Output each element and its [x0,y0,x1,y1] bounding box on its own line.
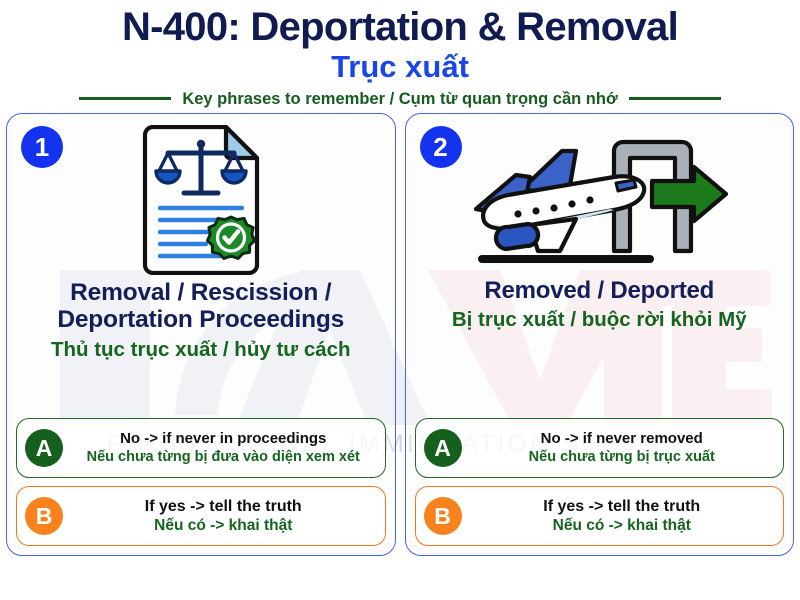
answers-list: A No -> if never removed Nếu chưa từng b… [415,418,785,546]
answer-text-english: If yes -> tell the truth [72,497,375,516]
answer-text: No -> if never in proceedings Nếu chưa t… [72,430,375,466]
card-number-badge: 2 [420,126,462,168]
card-number-badge: 1 [21,126,63,168]
card-term-vietnamese: Bị trục xuất / buộc rời khỏi Mỹ [415,308,785,332]
page-title: N-400: Deportation & Removal [0,6,800,49]
answers-list: A No -> if never in proceedings Nếu chưa… [16,418,386,546]
card-term-english: Removal / Rescission / Deportation Proce… [16,280,386,334]
answer-letter-badge: B [424,497,462,535]
page-header: N-400: Deportation & Removal Trục xuất K… [0,0,800,108]
airplane-departure-icon [415,124,785,274]
legal-document-icon [16,124,386,276]
answer-text-vietnamese: Nếu chưa từng bị đưa vào diện xem xét [72,449,375,466]
answer-text: If yes -> tell the truth Nếu có -> khai … [72,497,375,536]
infographic-page: PROFESSIONAL IMMIGRATION SERVICE N-400: … [0,0,800,600]
divider-right [629,97,721,100]
answer-text-english: No -> if never in proceedings [72,430,375,448]
answer-text-vietnamese: Nếu có -> khai thật [72,517,375,536]
answer-text-english: If yes -> tell the truth [471,497,774,516]
answer-option-b[interactable]: B If yes -> tell the truth Nếu có -> kha… [16,486,386,546]
card-term-vietnamese: Thủ tục trục xuất / hủy tư cách [16,338,386,362]
card-term-english: Removed / Deported [415,278,785,304]
answer-text: No -> if never removed Nếu chưa từng bị … [471,430,774,466]
answer-letter-badge: A [25,429,63,467]
answer-letter-badge: B [25,497,63,535]
card-removed-deported[interactable]: 2 [405,113,795,556]
answer-option-b[interactable]: B If yes -> tell the truth Nếu có -> kha… [415,486,785,546]
answer-option-a[interactable]: A No -> if never removed Nếu chưa từng b… [415,418,785,478]
answer-text: If yes -> tell the truth Nếu có -> khai … [471,497,774,536]
answer-letter-badge: A [424,429,462,467]
divider-left [79,97,171,100]
answer-text-vietnamese: Nếu chưa từng bị trục xuất [471,449,774,466]
answer-option-a[interactable]: A No -> if never in proceedings Nếu chưa… [16,418,386,478]
answer-text-english: No -> if never removed [471,430,774,448]
key-phrases-label: Key phrases to remember / Cụm từ quan tr… [182,90,617,108]
key-phrases-row: Key phrases to remember / Cụm từ quan tr… [0,90,800,108]
answer-text-vietnamese: Nếu có -> khai thật [471,517,774,536]
page-title-vietnamese: Trục xuất [0,50,800,85]
cards-container: 1 [0,108,800,562]
card-removal-proceedings[interactable]: 1 [6,113,396,556]
